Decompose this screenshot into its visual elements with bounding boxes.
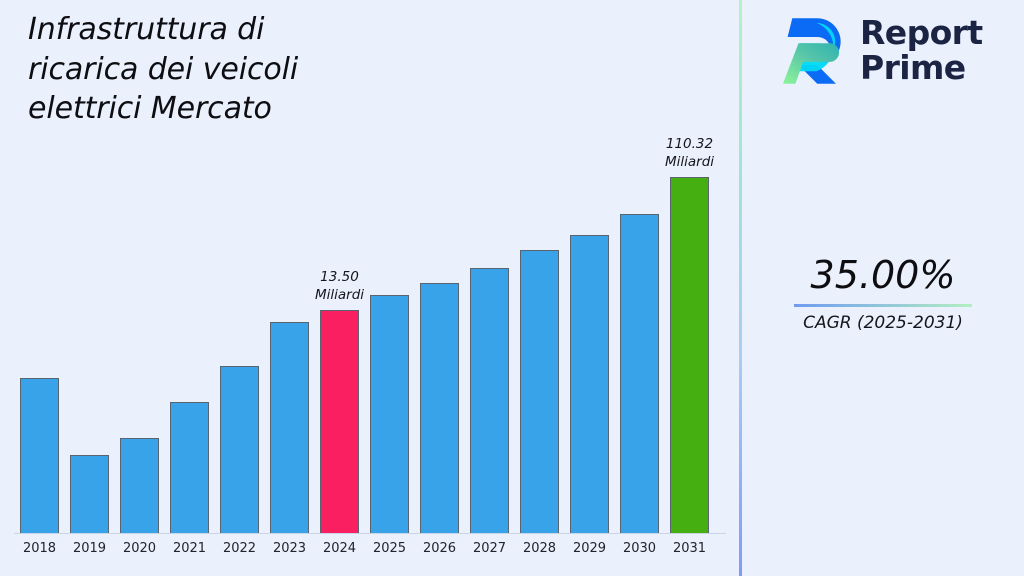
x-tick-2020: 2020 bbox=[114, 541, 165, 556]
bar-2029[interactable] bbox=[570, 235, 609, 533]
x-tick-2022: 2022 bbox=[214, 541, 265, 556]
bar-rect-2029[interactable] bbox=[570, 235, 609, 533]
bar-rect-2024[interactable] bbox=[320, 310, 359, 533]
bar-2022[interactable] bbox=[220, 366, 259, 533]
x-tick-2026: 2026 bbox=[414, 541, 465, 556]
bar-2021[interactable] bbox=[170, 402, 209, 533]
bar-2024[interactable]: 13.50Miliardi bbox=[320, 310, 359, 533]
bar-rect-2023[interactable] bbox=[270, 322, 309, 533]
x-tick-2021: 2021 bbox=[164, 541, 215, 556]
x-tick-2029: 2029 bbox=[564, 541, 615, 556]
x-tick-2023: 2023 bbox=[264, 541, 315, 556]
chart-panel: Infrastruttura di ricarica dei veicoli e… bbox=[0, 0, 740, 576]
x-tick-2024: 2024 bbox=[314, 541, 365, 556]
bar-2018[interactable] bbox=[20, 378, 59, 533]
bar-rect-2021[interactable] bbox=[170, 402, 209, 533]
bar-rect-2031[interactable] bbox=[670, 177, 709, 533]
bar-value-unit-2024: Miliardi bbox=[315, 286, 364, 304]
x-tick-2025: 2025 bbox=[364, 541, 415, 556]
infographic-page: Infrastruttura di ricarica dei veicoli e… bbox=[0, 0, 1024, 576]
bar-2031[interactable]: 110.32Miliardi bbox=[670, 177, 709, 533]
bar-rect-2020[interactable] bbox=[120, 438, 159, 533]
bar-2023[interactable] bbox=[270, 322, 309, 533]
bar-2030[interactable] bbox=[620, 214, 659, 533]
x-tick-2028: 2028 bbox=[514, 541, 565, 556]
bar-chart: 13.50Miliardi110.32Miliardi 201820192020… bbox=[0, 0, 740, 576]
x-tick-2031: 2031 bbox=[664, 541, 715, 556]
cagr-caption: CAGR (2025-2031) bbox=[742, 313, 1024, 333]
brand-panel: Report Prime 35.00% CAGR (2025-2031) bbox=[742, 0, 1024, 576]
bar-rect-2019[interactable] bbox=[70, 455, 109, 533]
cagr-divider-rule bbox=[794, 304, 972, 307]
bar-value-unit-2031: Miliardi bbox=[665, 153, 714, 171]
bar-2020[interactable] bbox=[120, 438, 159, 533]
cagr-block: 35.00% CAGR (2025-2031) bbox=[742, 255, 1024, 333]
bar-rect-2018[interactable] bbox=[20, 378, 59, 533]
bar-2027[interactable] bbox=[470, 268, 509, 533]
x-tick-2030: 2030 bbox=[614, 541, 665, 556]
bar-2025[interactable] bbox=[370, 295, 409, 533]
bar-value-label-2031: 110.32Miliardi bbox=[665, 135, 714, 171]
report-prime-logo-mark-icon bbox=[772, 12, 850, 90]
brand-name: Report Prime bbox=[860, 16, 983, 86]
bar-rect-2030[interactable] bbox=[620, 214, 659, 533]
bar-rect-2026[interactable] bbox=[420, 283, 459, 533]
bar-value-number-2031: 110.32 bbox=[665, 135, 714, 153]
bar-value-label-2024: 13.50Miliardi bbox=[315, 268, 364, 304]
cagr-value: 35.00% bbox=[742, 255, 1024, 297]
x-tick-2027: 2027 bbox=[464, 541, 515, 556]
x-tick-2019: 2019 bbox=[64, 541, 115, 556]
x-tick-2018: 2018 bbox=[14, 541, 65, 556]
bar-2026[interactable] bbox=[420, 283, 459, 533]
bar-rect-2022[interactable] bbox=[220, 366, 259, 533]
bar-rect-2027[interactable] bbox=[470, 268, 509, 533]
bar-rect-2025[interactable] bbox=[370, 295, 409, 533]
bar-2028[interactable] bbox=[520, 250, 559, 533]
bar-2019[interactable] bbox=[70, 455, 109, 533]
bar-rect-2028[interactable] bbox=[520, 250, 559, 533]
bar-value-number-2024: 13.50 bbox=[315, 268, 364, 286]
brand-logo: Report Prime bbox=[772, 12, 983, 90]
x-axis-line bbox=[14, 533, 726, 534]
